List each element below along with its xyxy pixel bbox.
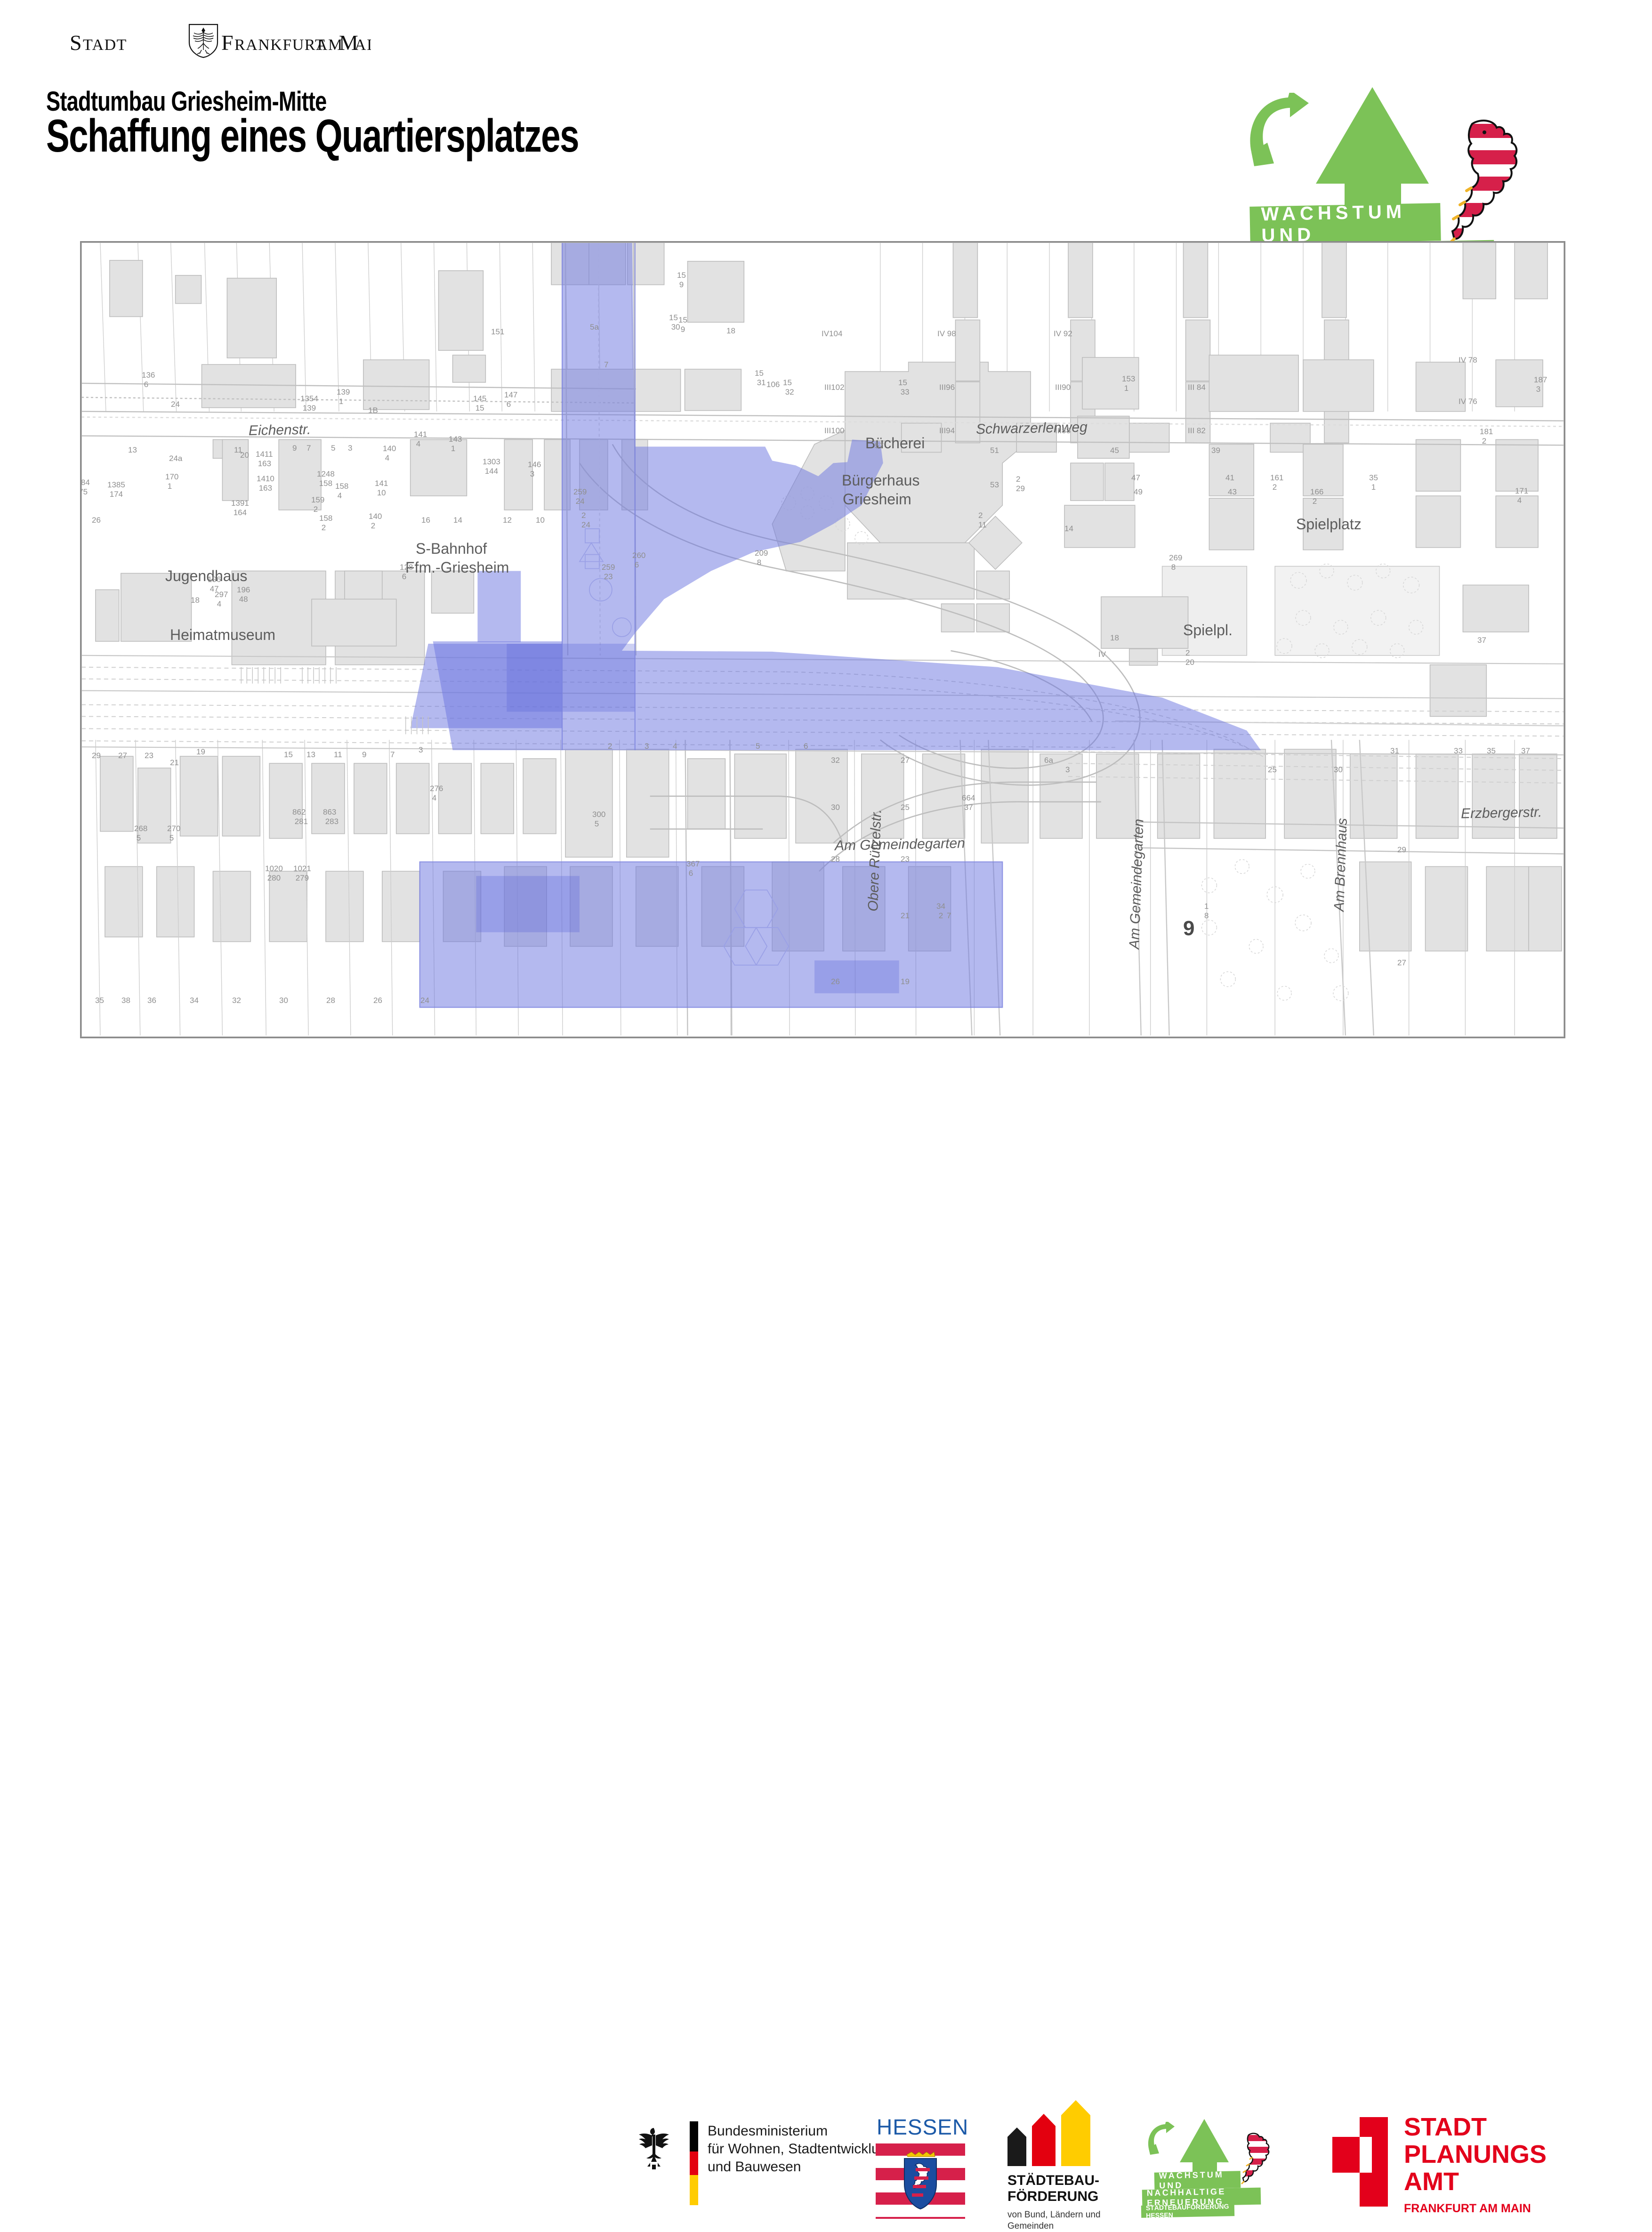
parcel-number: 43 — [1228, 487, 1237, 497]
stadtplanungsamt-text: STADT PLANUNGS AMT FRANKFURT AM MAIN — [1404, 2113, 1547, 2216]
house-number: 5 — [756, 742, 760, 751]
parcel-number: 1021 279 — [293, 864, 311, 883]
hessen-lion-icon — [1448, 115, 1532, 247]
parcel-number: 158 4 — [335, 482, 348, 501]
cadastral-map[interactable]: Eichenstr. Schwarzerlenweg Erzbergerstr.… — [80, 241, 1565, 1038]
house-number: 21 — [170, 758, 179, 768]
page-header: S TADT F RANKFURT AM M AIN Stadtumbau Gr… — [0, 0, 1652, 235]
spa-sub: FRANKFURT AM MAIN — [1404, 2202, 1547, 2216]
spa-line2: PLANUNGS — [1404, 2141, 1547, 2168]
house-number: IV — [1098, 650, 1106, 659]
parcel-number: 35 1 — [1369, 473, 1378, 492]
parcel-number: 49 — [1134, 487, 1143, 497]
parcel-number: 146 3 — [528, 460, 541, 479]
parcel-number: 1385 174 — [107, 480, 125, 499]
street-label-erzbergerstr: Erzbergerstr. — [1461, 804, 1542, 822]
place-label-sbahnhof: S-Bahnhof — [416, 540, 487, 558]
parcel-number: 13 — [128, 445, 137, 455]
house-number: 18 — [1110, 633, 1119, 643]
house-number: 11 — [334, 750, 342, 760]
parcel-number: 159 2 — [311, 495, 324, 514]
growth-arrow-icon — [1316, 87, 1429, 184]
parcel-number: 863 283 — [323, 808, 338, 826]
house-number: 21 — [901, 911, 910, 921]
house-number: 24 — [171, 400, 180, 409]
house-number: IV 78 — [1459, 356, 1477, 365]
house-number: III 82 — [1188, 426, 1206, 436]
house-number: 1B — [368, 406, 378, 415]
house-number: 7 — [390, 750, 395, 760]
house-number: III100 — [824, 426, 845, 436]
house-number: 18 — [191, 596, 200, 605]
house-number: 6 — [804, 742, 808, 751]
house-number: 34 — [190, 996, 199, 1005]
parcel-number: 11 — [234, 445, 242, 455]
spa-line3: AMT — [1404, 2168, 1547, 2195]
parcel-number: 211 — [978, 511, 987, 530]
house-number: 30 — [1334, 765, 1343, 775]
place-label-heimatmuseum: Heimatmuseum — [170, 626, 275, 644]
parcel-number: 664 37 — [962, 793, 975, 812]
hessen-lion-icon-small — [1237, 2131, 1275, 2190]
page-title: Schaffung eines Quartiersplatzes — [46, 109, 579, 162]
place-label-buecherei: Bücherei — [865, 435, 925, 452]
house-number: IV 76 — [1459, 397, 1477, 406]
house-number: 39 — [1211, 446, 1220, 455]
hessen-wordmark: HESSEN — [877, 2114, 965, 2140]
parcel-number: 270 5 — [167, 824, 180, 843]
house-number: 14 — [453, 516, 462, 525]
svg-text:S: S — [70, 31, 82, 55]
parcel-number: 171 4 — [1515, 486, 1528, 505]
house-number: 33 — [1454, 746, 1463, 756]
house-number: 35 — [1487, 746, 1496, 756]
house-number: 53 — [990, 480, 999, 490]
house-number: 220 — [1185, 648, 1194, 667]
house-number: 5a — [590, 323, 599, 332]
place-label-griesheim: Griesheim — [843, 491, 911, 508]
parcel-number: 158 2 — [319, 514, 332, 533]
house-number: 30 — [279, 996, 288, 1005]
parcel-number: 297 4 — [215, 590, 228, 609]
parcel-number: 1303 144 — [483, 457, 500, 476]
parcel-number: 1354 139 — [300, 394, 318, 413]
map-vector-layer — [81, 243, 1564, 1037]
house-number: 12 — [503, 516, 512, 525]
parcel-number: 209 8 — [755, 549, 768, 567]
svg-text:AIN: AIN — [355, 36, 371, 54]
parcel-number: 9 — [292, 444, 297, 453]
parcel-number: 1391 164 — [231, 499, 249, 518]
parcel-number: 187 3 — [1534, 375, 1547, 394]
house-number: 37 — [1521, 746, 1530, 756]
house-number: 30 — [1564, 996, 1565, 1005]
parcel-number: 15 31 — [755, 369, 766, 388]
parcel-number: 196 48 — [237, 585, 250, 604]
house-number: 3 — [645, 742, 649, 751]
house-number: 36 — [147, 996, 156, 1005]
house-number: 57 — [875, 441, 884, 451]
parcel-number: 3 — [348, 444, 352, 453]
house-number: 3 — [1065, 765, 1070, 775]
house-number: 106 — [766, 380, 780, 389]
house-number: 30 — [831, 803, 840, 812]
house-number: 24a — [169, 454, 182, 463]
house-number: 24 — [420, 996, 429, 1005]
house-number: 4 — [673, 742, 677, 751]
parcel-number: 268 5 — [134, 824, 147, 843]
staedtebau-title: STÄDTEBAU- FÖRDERUNG — [1007, 2173, 1106, 2205]
house-number: 18 — [726, 326, 735, 336]
parcel-number: 141 10 — [375, 479, 388, 498]
street-label-schwarzerlenweg: Schwarzerlenweg — [976, 420, 1088, 438]
hessen-flag — [876, 2143, 965, 2219]
parcel-number: 1384 175 — [80, 478, 90, 497]
parcel-number: 224 — [581, 511, 590, 530]
place-label-spielplatz: Spielplatz — [1296, 516, 1362, 533]
parcel-number: 140 4 — [383, 444, 396, 463]
parcel-number: 276 4 — [430, 784, 443, 803]
footer-logo-strip: Bundesministerium für Wohnen, Stadtentwi… — [0, 1050, 1652, 1168]
house-number: 26 — [831, 977, 840, 987]
parcel-number: 145 15 — [473, 394, 486, 413]
house-number: 31 — [1390, 746, 1399, 756]
house-number: 25 — [1268, 765, 1277, 775]
house-number: 34 2 — [936, 902, 945, 921]
staedtebaufoerderung-logo: STÄDTEBAU- FÖRDERUNG von Bund, Ländern u… — [1007, 2115, 1106, 2232]
parcel-number: 300 5 — [592, 810, 605, 829]
house-number: III88 — [1055, 426, 1071, 436]
house-number: 26 — [92, 516, 101, 525]
spa-line1: STADT — [1404, 2113, 1547, 2141]
parcel-number: 143 1 — [449, 435, 462, 453]
wachstum-erneuerung-logo-small: WACHSTUM UND NACHHALTIGE ERNEUERUNG STÄD… — [1139, 2119, 1295, 2208]
parcel-number: 260 6 — [632, 551, 645, 570]
house-number: 15 — [284, 750, 293, 760]
parcel-number: 1020 280 — [265, 864, 283, 883]
bmwsb-text: Bundesministerium für Wohnen, Stadtentwi… — [708, 2122, 895, 2176]
parcel-number: 147 6 — [504, 390, 517, 409]
house-number: 27 — [1397, 958, 1406, 968]
house-number: 25 — [901, 803, 910, 812]
svg-text:F: F — [221, 31, 234, 55]
house-number: IV 92 — [1054, 329, 1072, 339]
house-number: 23 — [145, 751, 153, 760]
map-big-number: 9 — [1183, 917, 1194, 940]
parcel-number: 170 1 — [165, 472, 178, 491]
house-number: 23 — [901, 855, 910, 864]
house-number: III 84 — [1188, 383, 1206, 392]
house-number: 51 — [990, 446, 999, 455]
parcel-number: 1410 163 — [257, 474, 274, 493]
parcel-number: 166 2 — [1310, 487, 1323, 506]
house-number: IV104 — [822, 329, 842, 339]
house-number: 9 — [362, 750, 366, 760]
parcel-number: 181 2 — [1480, 427, 1493, 446]
house-number: 32 — [831, 756, 840, 765]
svg-text:TADT: TADT — [83, 36, 127, 54]
staedtebau-subtitle: von Bund, Ländern und Gemeinden — [1007, 2209, 1106, 2232]
house-number: III90 — [1055, 383, 1071, 392]
hessen-shield-icon — [903, 2151, 938, 2210]
parcel-number: 14 — [1064, 524, 1073, 534]
place-label-spielpl: Spielpl. — [1183, 622, 1233, 639]
parcel-number: 5 — [331, 444, 335, 453]
stadtplanungsamt-mark-icon — [1332, 2117, 1388, 2207]
parcel-number: 15 9 — [678, 315, 687, 334]
house-number: 27 — [901, 756, 910, 765]
parcel-number: 139 1 — [337, 388, 350, 406]
hessen-logo: HESSEN — [876, 2114, 965, 2219]
street-label-am-gemeindegarten: Am Gemeindegarten — [835, 835, 965, 854]
parcel-number: 15 9 — [677, 271, 686, 290]
house-number: III102 — [824, 383, 845, 392]
parcel-number: 259 24 — [573, 487, 587, 506]
house-number: 3 — [419, 745, 423, 755]
parcel-number: 15 32 — [783, 378, 794, 397]
house-number: 47 — [1131, 473, 1140, 483]
house-number: 19 — [196, 747, 205, 757]
street-label-am-brennhaus: Am Brennhaus — [1331, 818, 1351, 912]
house-number: 151 — [491, 327, 504, 337]
place-label-jugendhaus: Jugendhaus — [165, 567, 247, 585]
parcel-number: 161 2 — [1270, 473, 1283, 492]
house-number: 38 — [121, 996, 130, 1005]
stadt-frankfurt-logo: S TADT F RANKFURT AM M AIN — [70, 23, 371, 58]
house-number: 28 — [831, 855, 840, 864]
house-number: 10 — [536, 516, 545, 525]
house-number: 45 — [1110, 446, 1119, 455]
house-number: 16 — [421, 516, 430, 525]
house-number: 13 — [306, 750, 315, 760]
house-number: IV 98 — [937, 329, 956, 339]
wachstum-band-1: WACHSTUM UND — [1249, 203, 1441, 244]
bundesadler-icon — [633, 2125, 675, 2172]
parcel-number: 141 4 — [414, 430, 427, 449]
house-number: 41 — [1225, 473, 1234, 483]
parcel-number: 153 1 — [1122, 374, 1135, 393]
house-number: 29 — [1397, 845, 1406, 855]
house-number: 2 — [608, 742, 612, 751]
house-number: 35 — [95, 996, 104, 1005]
parcel-number: 259 23 — [602, 563, 615, 582]
three-houses-icon — [1007, 2115, 1106, 2166]
parcel-number: 269 8 — [1169, 553, 1182, 572]
place-label-buergerhaus: Bürgerhaus — [842, 472, 919, 489]
growth-arrow-icon-small — [1180, 2119, 1229, 2162]
house-number: 7 — [947, 911, 951, 921]
house-number: 19 — [901, 977, 910, 987]
parcel-number: 136 6 — [142, 371, 155, 389]
parcel-number: 1248 158 — [317, 469, 335, 488]
parcel-number: 229 — [1016, 475, 1025, 493]
house-number: 27 — [118, 751, 127, 760]
house-number: 32 — [232, 996, 241, 1005]
house-number: 6a — [1044, 756, 1053, 765]
house-number: 28 — [326, 996, 335, 1005]
house-number: 29 — [92, 751, 101, 760]
germany-flag-bar — [690, 2121, 698, 2205]
house-number: III94 — [939, 426, 955, 436]
wachstum-small-band-2: NACHHALTIGE ERNEUERUNG — [1142, 2188, 1261, 2207]
house-number: 37 — [1477, 636, 1486, 645]
wachstum-small-band-1: WACHSTUM UND — [1154, 2171, 1241, 2190]
parcel-number: 15 33 — [898, 378, 910, 397]
parcel-number: 18 — [1204, 902, 1209, 921]
house-number: III96 — [939, 383, 955, 392]
street-label-eichenstr: Eichenstr. — [249, 422, 311, 439]
parcel-number: 1411 163 — [256, 450, 273, 469]
wachstum-small-band-3: STÄDTEBAUFÖRDERUNG HESSEN — [1141, 2204, 1234, 2218]
parcel-number: 7 — [306, 444, 311, 453]
parcel-number: 140 2 — [369, 512, 382, 531]
parcel-number: 862 281 — [292, 808, 308, 826]
place-label-sbahnhof-name: Ffm.-Griesheim — [405, 559, 509, 576]
house-number: 26 — [373, 996, 382, 1005]
house-number: 7 — [604, 360, 608, 370]
svg-text:RANKFURT: RANKFURT — [234, 36, 325, 54]
parcel-number: 128 6 — [400, 563, 413, 582]
parcel-number: 367 6 — [686, 859, 700, 878]
